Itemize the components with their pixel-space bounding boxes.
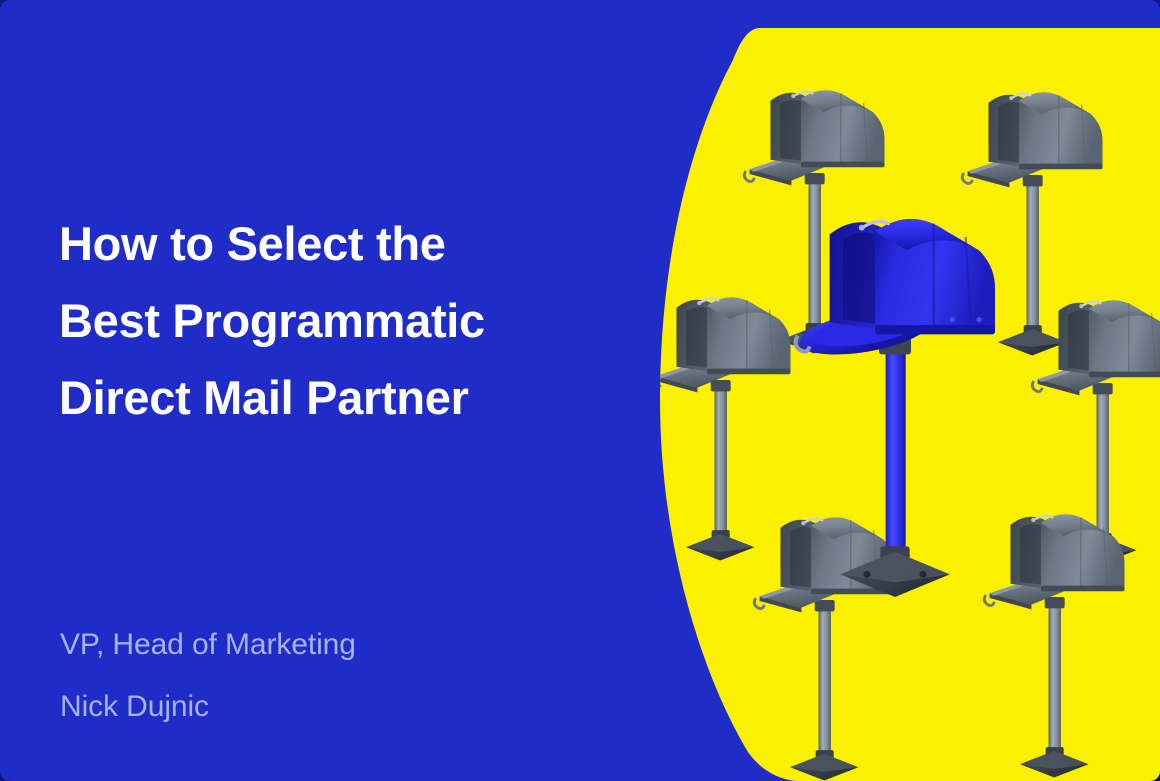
title-line-2: Best Programmatic [59,282,639,359]
page-title: How to Select the Best Programmatic Dire… [59,205,639,436]
title-slide: How to Select the Best Programmatic Dire… [0,0,1160,781]
speaker-byline: VP, Head of Marketing Nick Dujnic [60,614,620,738]
speaker-role: VP, Head of Marketing [60,614,620,676]
text-column: How to Select the Best Programmatic Dire… [0,0,640,781]
yellow-panel [640,0,1160,781]
speaker-name: Nick Dujnic [60,676,620,738]
title-line-3: Direct Mail Partner [59,359,639,436]
title-line-1: How to Select the [59,205,639,282]
